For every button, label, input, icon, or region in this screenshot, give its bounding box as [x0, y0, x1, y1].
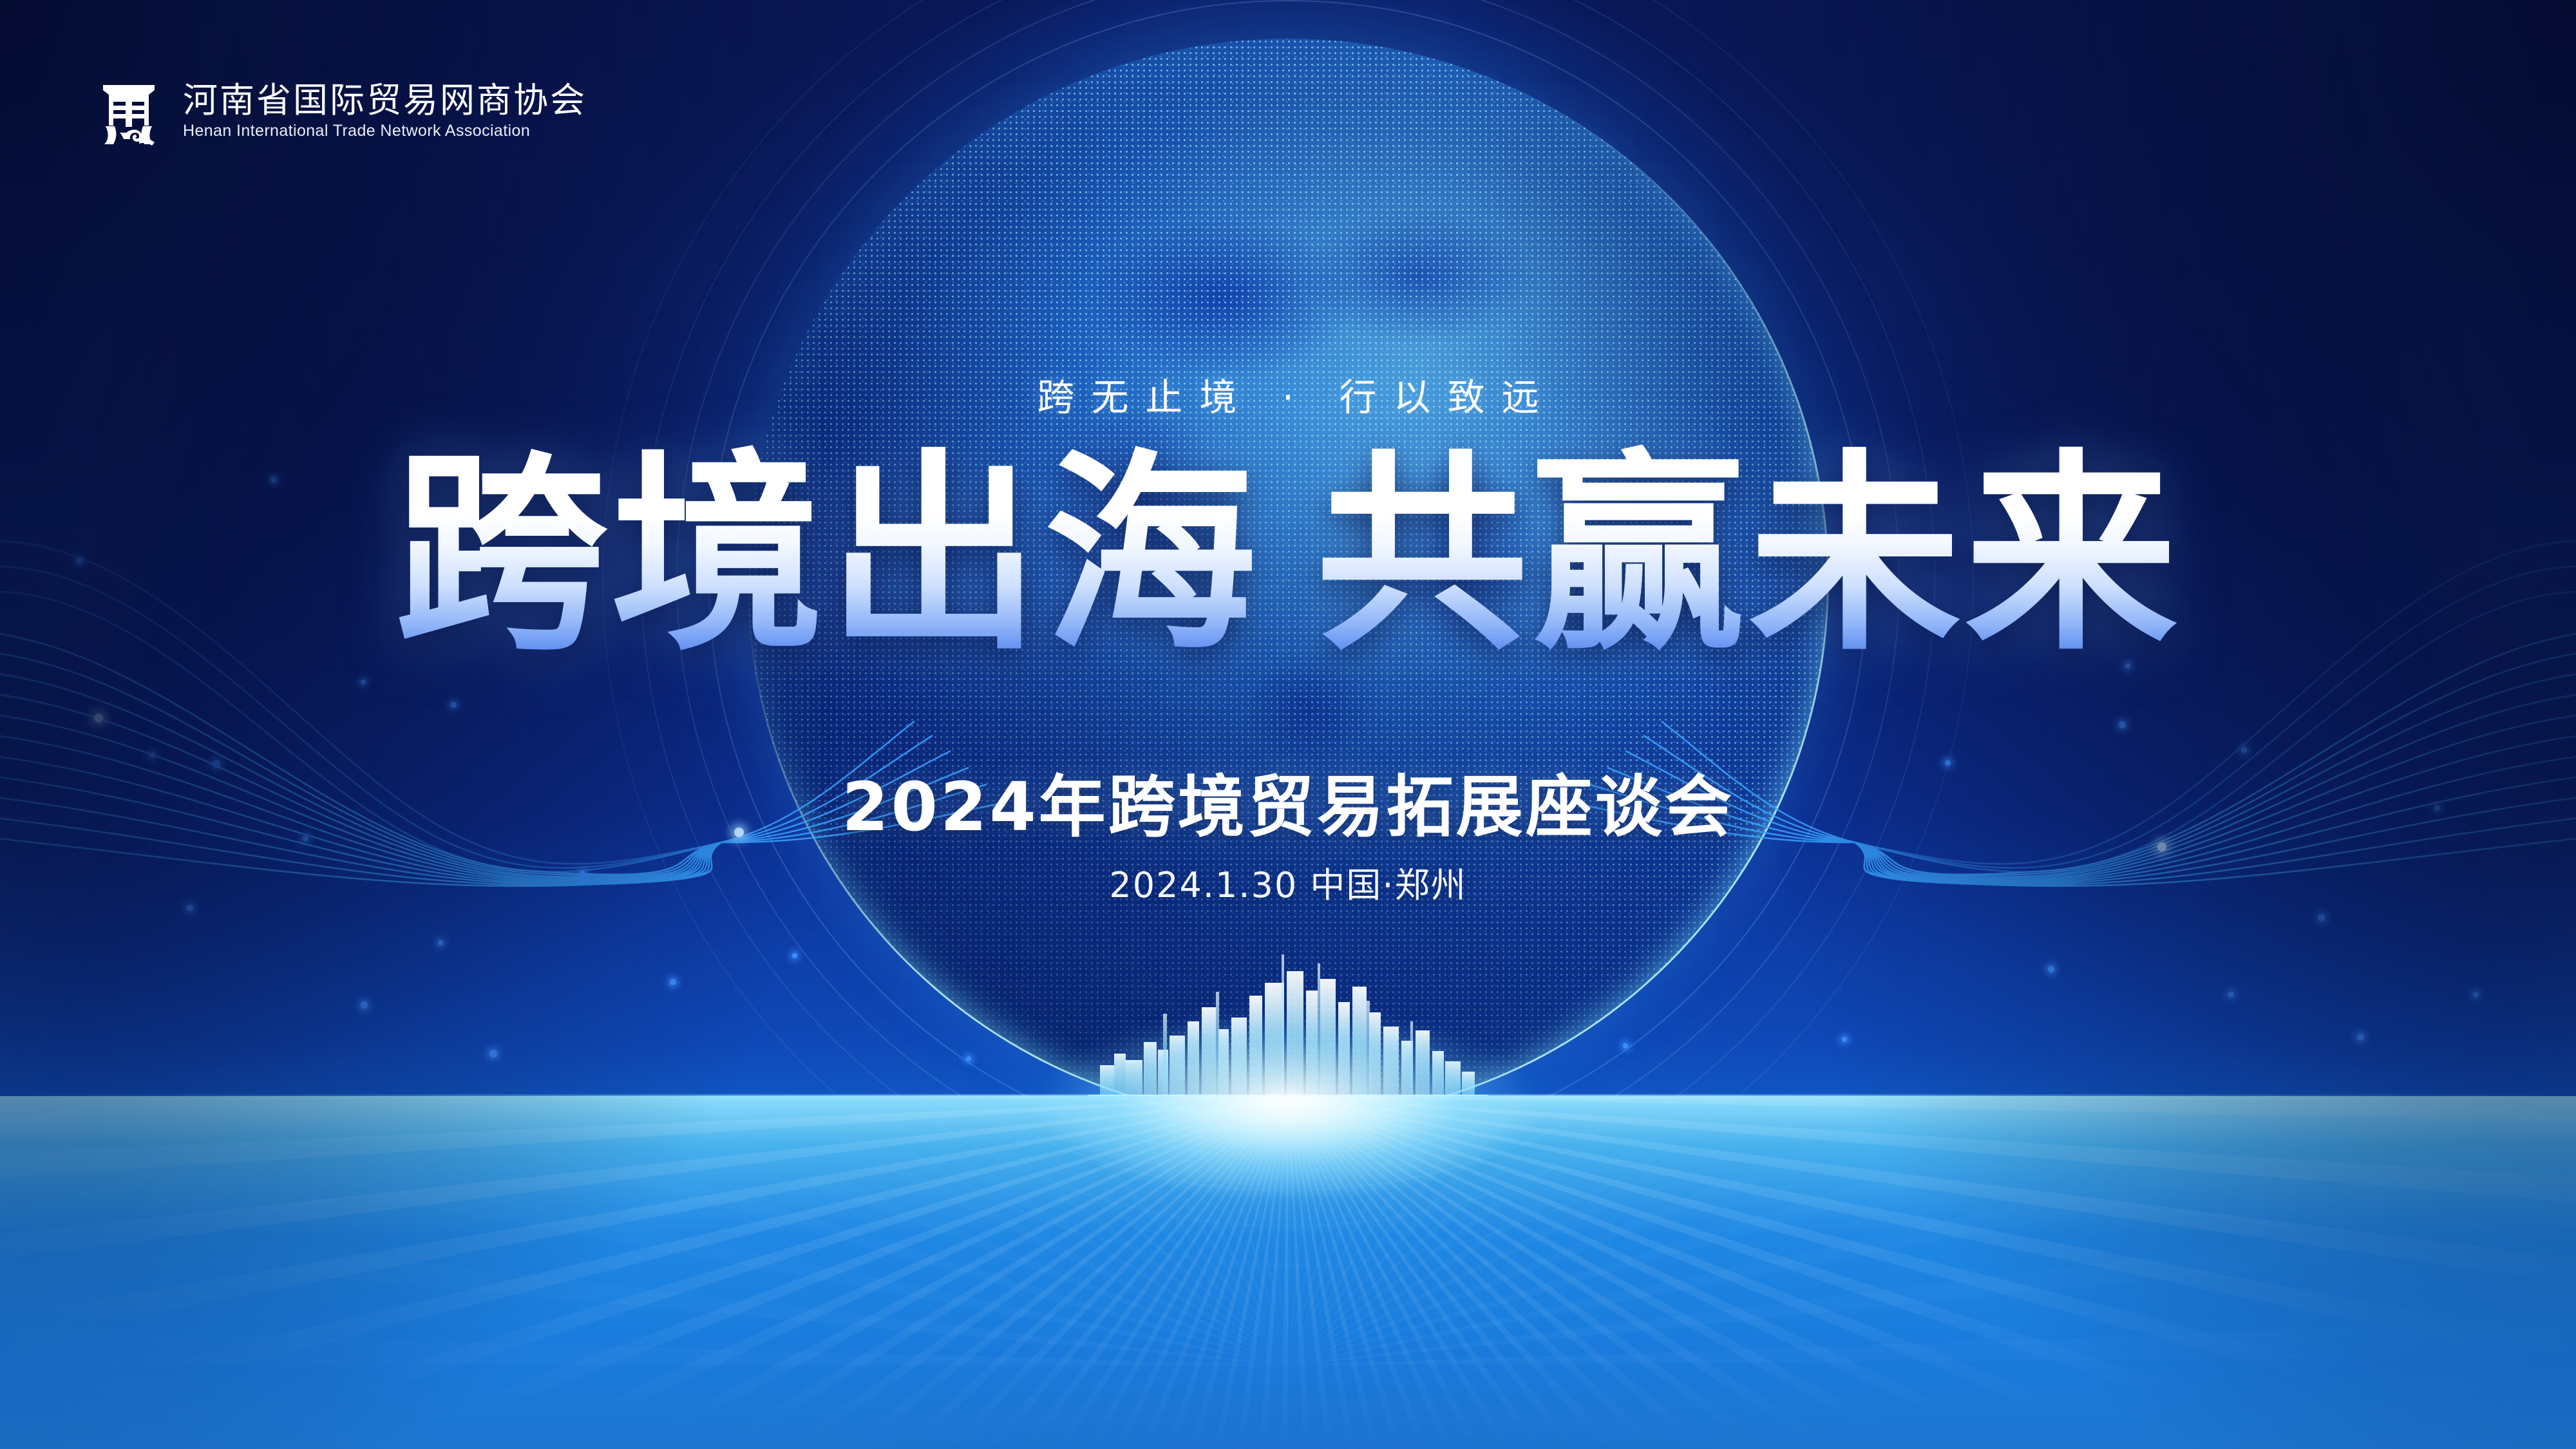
brand-name-cn: 河南省国际贸易网商协会 [183, 82, 587, 118]
headline-part-1: 跨境出海 [395, 430, 1260, 681]
hero-headline: 跨境出海共赢未来 [0, 430, 2576, 681]
hero-tagline: 跨无止境 · 行以致远 [0, 367, 2576, 421]
event-poster: 河南省国际贸易网商协会 Henan International Trade Ne… [0, 0, 2576, 1449]
hero-date-location: 2024.1.30 中国·郑州 [0, 857, 2576, 907]
hero-subtitle: 2024年跨境贸易拓展座谈会 [0, 752, 2576, 849]
brand-name-en: Henan International Trade Network Associ… [183, 122, 587, 140]
headline-part-2: 共赢未来 [1316, 430, 2181, 681]
henan-seal-emblem-icon [97, 77, 161, 146]
brand-lockup: 河南省国际贸易网商协会 Henan International Trade Ne… [97, 77, 587, 146]
